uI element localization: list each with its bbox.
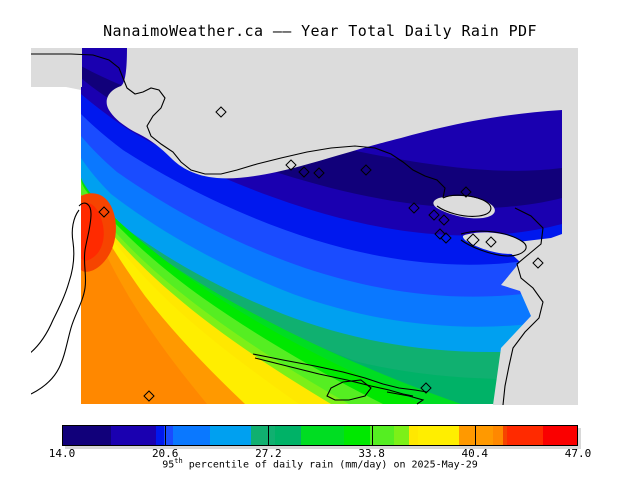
- colorbar-band: [173, 426, 211, 445]
- colorbar-tick: [268, 425, 269, 446]
- weather-map-figure: NanaimoWeather.ca —— Year Total Daily Ra…: [0, 0, 640, 480]
- colorbar-band: [156, 426, 165, 445]
- colorbar-band: [111, 426, 156, 445]
- colorbar-band: [543, 426, 577, 445]
- colorbar-caption: 95th percentile of daily rain (mm/day) o…: [0, 457, 640, 470]
- colorbar-band: [507, 426, 543, 445]
- colorbar-band: [63, 426, 111, 445]
- colorbar-band: [301, 426, 344, 445]
- page-title: NanaimoWeather.ca —— Year Total Daily Ra…: [0, 22, 640, 40]
- colorbar-band: [418, 426, 459, 445]
- colorbar-bands[interactable]: [62, 425, 578, 446]
- colorbar-band: [210, 426, 251, 445]
- caption-superscript: th: [174, 457, 182, 465]
- colorbar-band: [459, 426, 493, 445]
- colorbar-band: [344, 426, 370, 445]
- map-canvas[interactable]: [31, 48, 578, 405]
- colorbar: 14.020.627.233.840.447.0: [62, 425, 578, 446]
- colorbar-band: [370, 426, 394, 445]
- colorbar-tick: [475, 425, 476, 446]
- colorbar-tick: [165, 425, 166, 446]
- colorbar-tick: [372, 425, 373, 446]
- colorbar-band: [394, 426, 409, 445]
- colorbar-band: [251, 426, 275, 445]
- map-panel[interactable]: [31, 48, 578, 405]
- colorbar-band: [275, 426, 301, 445]
- colorbar-band: [493, 426, 503, 445]
- colorbar-band: [409, 426, 418, 445]
